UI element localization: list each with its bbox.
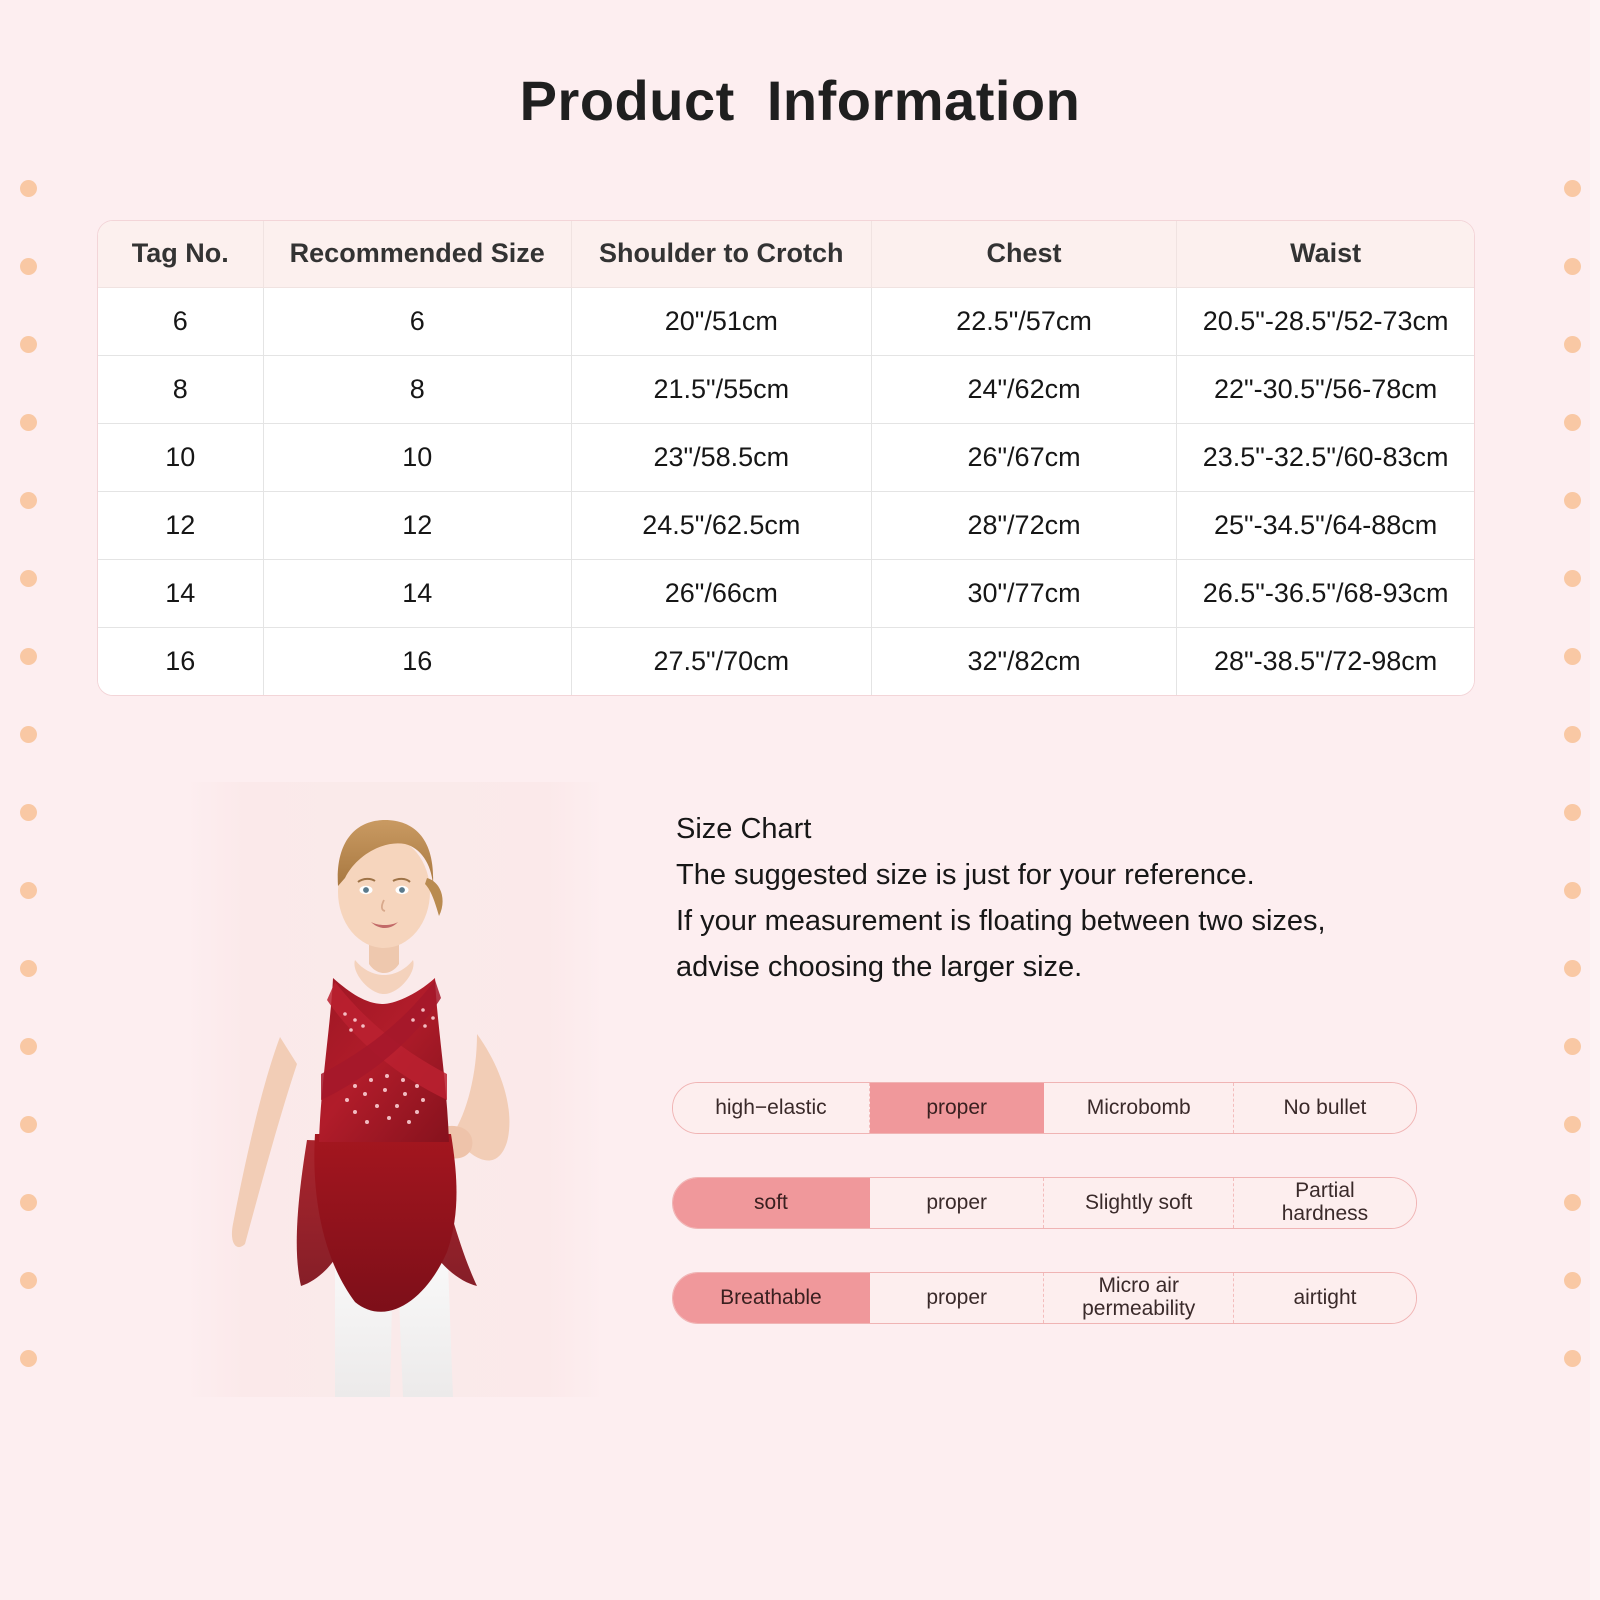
decorative-dot (20, 336, 37, 353)
decorative-dot (1564, 180, 1581, 197)
cell-chest: 32"/82cm (871, 627, 1176, 695)
decorative-dot (1564, 726, 1581, 743)
cell-recommended-size: 8 (263, 355, 571, 423)
decorative-dot (20, 414, 37, 431)
note-line-3: If your measurement is floating between … (676, 898, 1466, 944)
cell-chest: 26"/67cm (871, 423, 1176, 491)
decorative-dot (1564, 1116, 1581, 1133)
page-title: Product Information (0, 68, 1600, 133)
segment-proper[interactable]: proper (870, 1178, 1045, 1228)
cell-chest: 30"/77cm (871, 559, 1176, 627)
decorative-dot (1564, 1038, 1581, 1055)
cell-recommended-size: 14 (263, 559, 571, 627)
segment-airtight[interactable]: airtight (1234, 1273, 1416, 1323)
cell-shoulder-to-crotch: 21.5"/55cm (571, 355, 871, 423)
table-row: 14 14 26"/66cm 30"/77cm 26.5"-36.5"/68-9… (98, 559, 1474, 627)
decorative-dot (20, 882, 37, 899)
table-header-tag-no: Tag No. (98, 221, 263, 287)
right-edge-strip (1590, 0, 1600, 1600)
cell-shoulder-to-crotch: 23"/58.5cm (571, 423, 871, 491)
table-header-chest: Chest (871, 221, 1176, 287)
decorative-dot (1564, 960, 1581, 977)
cell-waist: 26.5"-36.5"/68-93cm (1177, 559, 1474, 627)
decorative-dot (20, 258, 37, 275)
note-line-2: The suggested size is just for your refe… (676, 852, 1466, 898)
table-row: 8 8 21.5"/55cm 24"/62cm 22"-30.5"/56-78c… (98, 355, 1474, 423)
size-table-container: Tag No. Recommended Size Shoulder to Cro… (97, 220, 1475, 696)
decorative-dot (20, 1194, 37, 1211)
cell-recommended-size: 12 (263, 491, 571, 559)
cell-recommended-size: 16 (263, 627, 571, 695)
note-line-4: advise choosing the larger size. (676, 944, 1466, 990)
property-bars: high−elastic proper Microbomb No bullet … (672, 1082, 1417, 1367)
cell-tag-no: 6 (98, 287, 263, 355)
decorative-dot (20, 804, 37, 821)
decorative-dot (1564, 882, 1581, 899)
table-header-waist: Waist (1177, 221, 1474, 287)
cell-waist: 25"-34.5"/64-88cm (1177, 491, 1474, 559)
decorative-dot (20, 726, 37, 743)
cell-tag-no: 10 (98, 423, 263, 491)
decorative-dot (20, 1038, 37, 1055)
decorative-dot (1564, 1272, 1581, 1289)
decorative-dot (1564, 492, 1581, 509)
cell-shoulder-to-crotch: 27.5"/70cm (571, 627, 871, 695)
decorative-dot (1564, 1350, 1581, 1367)
cell-chest: 22.5"/57cm (871, 287, 1176, 355)
cell-shoulder-to-crotch: 20"/51cm (571, 287, 871, 355)
property-bar-elasticity: high−elastic proper Microbomb No bullet (672, 1082, 1417, 1134)
decorative-dot (20, 570, 37, 587)
cell-waist: 28"-38.5"/72-98cm (1177, 627, 1474, 695)
decorative-dot (20, 1350, 37, 1367)
cell-tag-no: 16 (98, 627, 263, 695)
segment-microbomb[interactable]: Microbomb (1044, 1083, 1233, 1133)
table-header-row: Tag No. Recommended Size Shoulder to Cro… (98, 221, 1474, 287)
note-heading: Size Chart (676, 806, 1466, 852)
cell-tag-no: 12 (98, 491, 263, 559)
table-header-shoulder-to-crotch: Shoulder to Crotch (571, 221, 871, 287)
cell-shoulder-to-crotch: 24.5"/62.5cm (571, 491, 871, 559)
decorative-dot-rail-left (0, 0, 56, 1600)
segment-proper[interactable]: proper (870, 1083, 1045, 1133)
table-header-recommended-size: Recommended Size (263, 221, 571, 287)
cell-chest: 28"/72cm (871, 491, 1176, 559)
model-photo-illustration (185, 782, 605, 1397)
property-bar-breathability: Breathable proper Micro air permeability… (672, 1272, 1417, 1324)
table-row: 12 12 24.5"/62.5cm 28"/72cm 25"-34.5"/64… (98, 491, 1474, 559)
cell-waist: 20.5"-28.5"/52-73cm (1177, 287, 1474, 355)
decorative-dot (1564, 258, 1581, 275)
cell-recommended-size: 6 (263, 287, 571, 355)
cell-tag-no: 8 (98, 355, 263, 423)
cell-waist: 22"-30.5"/56-78cm (1177, 355, 1474, 423)
segment-breathable[interactable]: Breathable (673, 1273, 870, 1323)
decorative-dot (1564, 1194, 1581, 1211)
segment-soft[interactable]: soft (673, 1178, 870, 1228)
segment-micro-air-permeability[interactable]: Micro air permeability (1044, 1273, 1233, 1323)
size-chart-note: Size Chart The suggested size is just fo… (676, 806, 1466, 990)
table-row: 6 6 20"/51cm 22.5"/57cm 20.5"-28.5"/52-7… (98, 287, 1474, 355)
property-bar-softness: soft proper Slightly soft Partial hardne… (672, 1177, 1417, 1229)
decorative-dot (20, 492, 37, 509)
decorative-dot (20, 648, 37, 665)
table-row: 16 16 27.5"/70cm 32"/82cm 28"-38.5"/72-9… (98, 627, 1474, 695)
segment-high-elastic[interactable]: high−elastic (673, 1083, 870, 1133)
segment-slightly-soft[interactable]: Slightly soft (1044, 1178, 1233, 1228)
decorative-dot (20, 1272, 37, 1289)
decorative-dot (20, 1116, 37, 1133)
segment-proper[interactable]: proper (870, 1273, 1045, 1323)
cell-recommended-size: 10 (263, 423, 571, 491)
segment-partial-hardness[interactable]: Partial hardness (1234, 1178, 1416, 1228)
decorative-dot (1564, 414, 1581, 431)
decorative-dot (1564, 804, 1581, 821)
decorative-dot (1564, 648, 1581, 665)
decorative-dot (20, 960, 37, 977)
model-photo (185, 782, 605, 1397)
cell-waist: 23.5"-32.5"/60-83cm (1177, 423, 1474, 491)
cell-chest: 24"/62cm (871, 355, 1176, 423)
cell-tag-no: 14 (98, 559, 263, 627)
decorative-dot (1564, 570, 1581, 587)
decorative-dot (20, 180, 37, 197)
table-row: 10 10 23"/58.5cm 26"/67cm 23.5"-32.5"/60… (98, 423, 1474, 491)
size-table: Tag No. Recommended Size Shoulder to Cro… (98, 221, 1474, 695)
segment-no-bullet[interactable]: No bullet (1234, 1083, 1416, 1133)
decorative-dot (1564, 336, 1581, 353)
cell-shoulder-to-crotch: 26"/66cm (571, 559, 871, 627)
